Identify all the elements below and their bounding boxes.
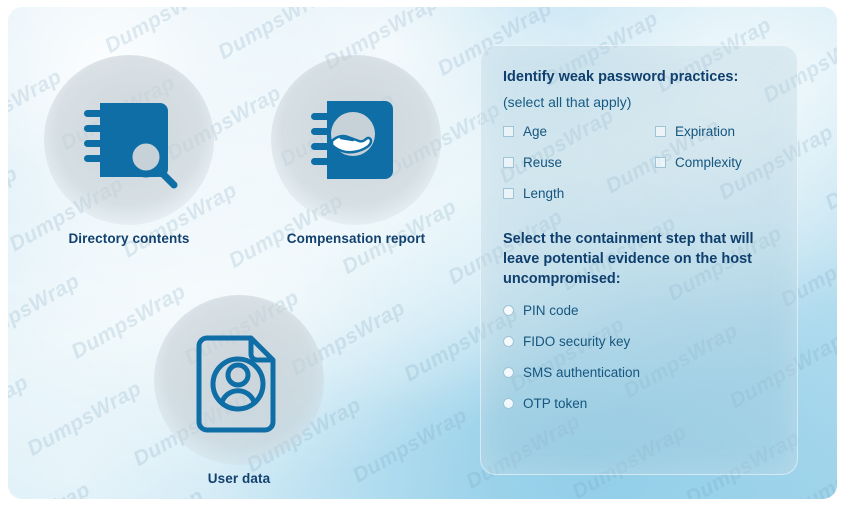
checkbox-icon[interactable] <box>503 157 514 168</box>
checkbox-icon[interactable] <box>655 157 666 168</box>
tile-label: Compensation report <box>271 231 441 246</box>
option-label: Reuse <box>523 155 562 170</box>
option-label: OTP token <box>523 396 587 411</box>
question1-options: Age Expiration Reuse Complexity Length <box>503 124 777 201</box>
tile-user-data[interactable]: User data <box>154 295 324 486</box>
question1-subtitle: (select all that apply) <box>503 94 777 110</box>
grid-spacer <box>655 186 777 201</box>
question2-options: PIN code FIDO security key SMS authentic… <box>503 303 777 411</box>
checkbox-icon[interactable] <box>503 188 514 199</box>
radio-option-pin-code[interactable]: PIN code <box>503 303 777 318</box>
tile-label: User data <box>154 471 324 486</box>
notebook-hand-icon <box>297 81 415 199</box>
option-label: PIN code <box>523 303 579 318</box>
option-label: Length <box>523 186 564 201</box>
radio-option-fido-security-key[interactable]: FIDO security key <box>503 334 777 349</box>
tile-label: Directory contents <box>44 231 214 246</box>
icon-disc <box>154 295 324 465</box>
background-canvas: DumpsWrapDumpsWrapDumpsWrapDumpsWrapDump… <box>8 7 837 499</box>
option-label: SMS authentication <box>523 365 640 380</box>
checkbox-icon[interactable] <box>503 126 514 137</box>
radio-option-sms-authentication[interactable]: SMS authentication <box>503 365 777 380</box>
document-user-icon <box>183 324 295 436</box>
notebook-search-icon <box>70 81 188 199</box>
checkbox-option-complexity[interactable]: Complexity <box>655 155 777 170</box>
option-label: FIDO security key <box>523 334 630 349</box>
tile-compensation-report[interactable]: Compensation report <box>271 55 441 246</box>
radio-icon[interactable] <box>503 398 514 409</box>
checkbox-option-expiration[interactable]: Expiration <box>655 124 777 139</box>
checkbox-option-reuse[interactable]: Reuse <box>503 155 655 170</box>
checkbox-option-length[interactable]: Length <box>503 186 655 201</box>
option-label: Age <box>523 124 547 139</box>
icon-disc <box>44 55 214 225</box>
radio-icon[interactable] <box>503 367 514 378</box>
checkbox-icon[interactable] <box>655 126 666 137</box>
question1-title: Identify weak password practices: <box>503 68 777 87</box>
tile-directory-contents[interactable]: Directory contents <box>44 55 214 246</box>
icon-disc <box>271 55 441 225</box>
option-label: Expiration <box>675 124 735 139</box>
checkbox-option-age[interactable]: Age <box>503 124 655 139</box>
question-panel: Identify weak password practices: (selec… <box>480 45 798 475</box>
screenshot-root: DumpsWrapDumpsWrapDumpsWrapDumpsWrapDump… <box>0 0 845 507</box>
radio-option-otp-token[interactable]: OTP token <box>503 396 777 411</box>
radio-icon[interactable] <box>503 336 514 347</box>
question2-title: Select the containment step that will le… <box>503 229 777 289</box>
radio-icon[interactable] <box>503 305 514 316</box>
option-label: Complexity <box>675 155 742 170</box>
